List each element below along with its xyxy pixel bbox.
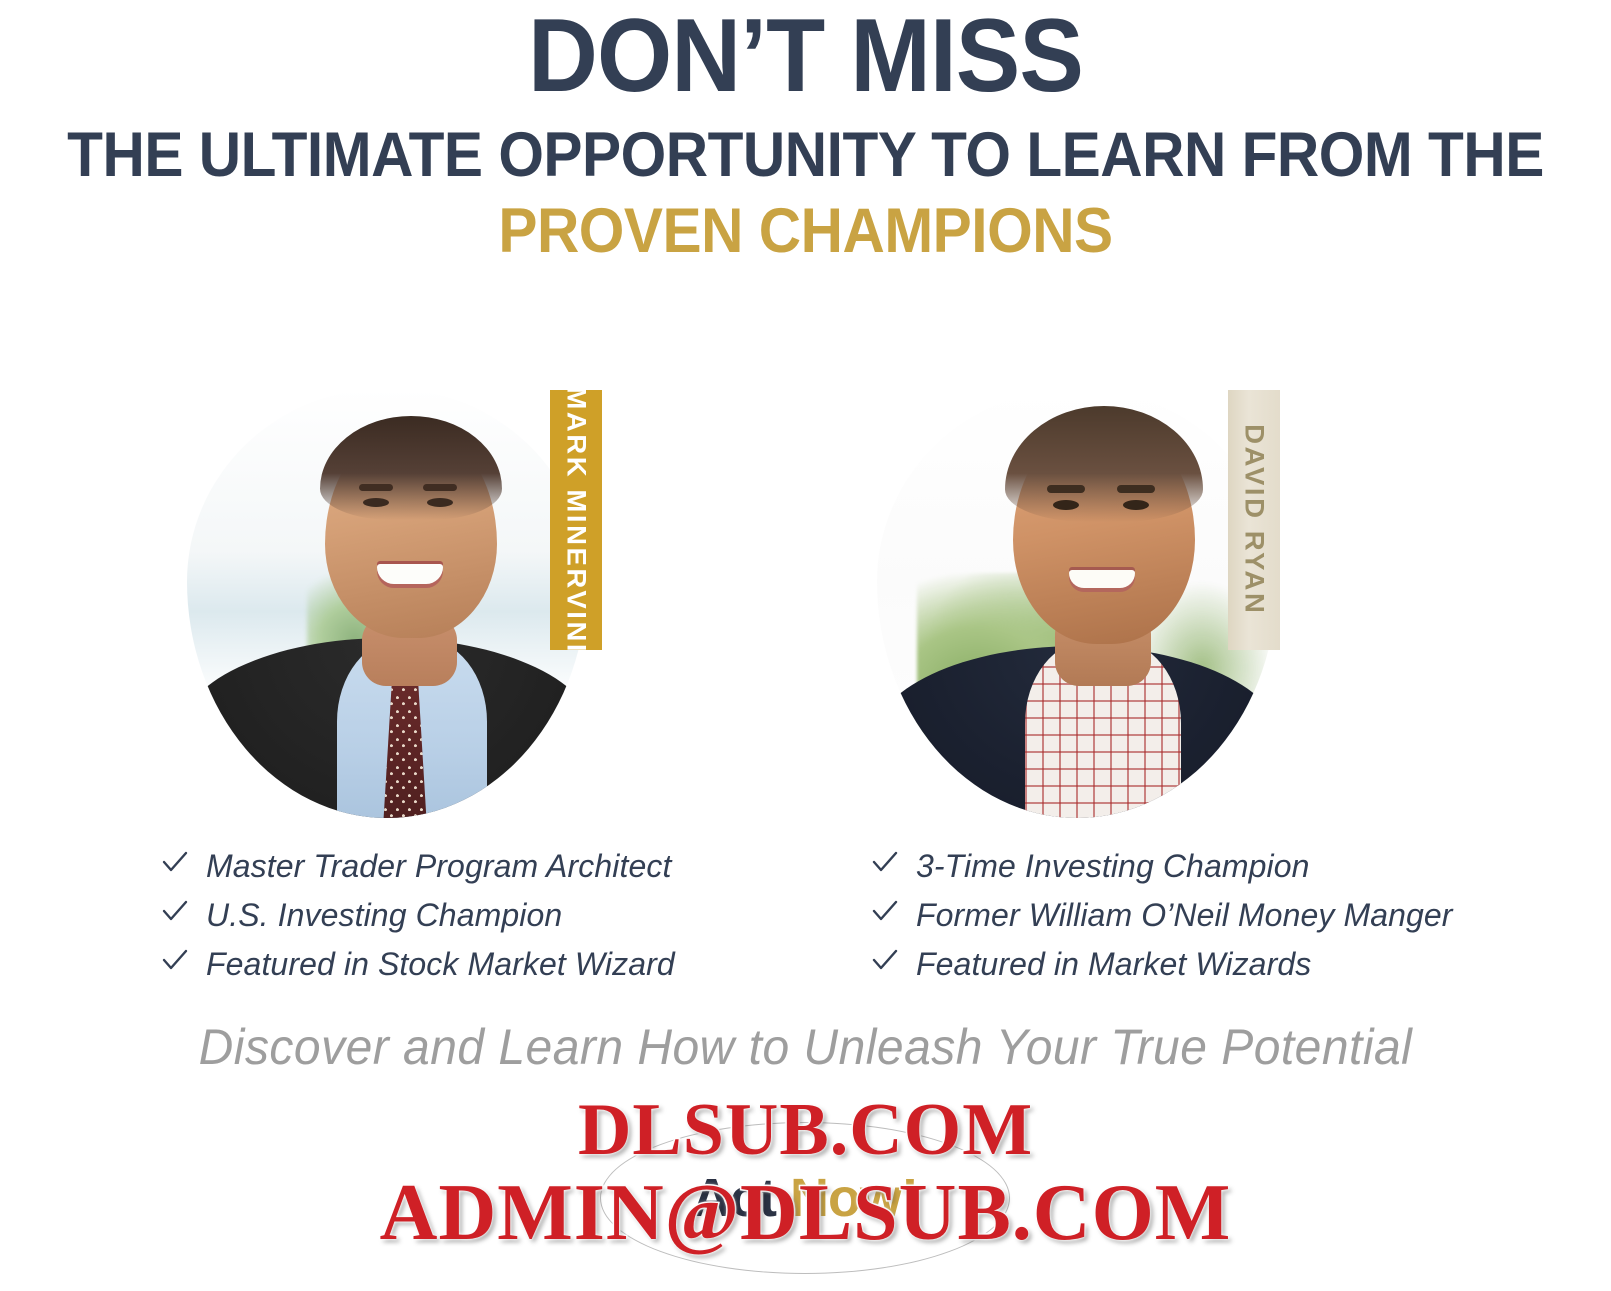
credential-text: Master Trader Program Architect [206, 848, 671, 885]
speaker-card-david-ryan: DAVID RYAN [855, 378, 1325, 828]
credential-text: Former William O’Neil Money Manger [916, 897, 1453, 934]
portrait-eye-left [363, 498, 389, 507]
credential-text: Featured in Stock Market Wizard [206, 946, 675, 983]
check-icon [870, 892, 916, 926]
portrait-image-david-ryan [877, 388, 1277, 818]
check-icon [160, 892, 206, 926]
portrait-eyebrow-left [1047, 485, 1085, 493]
check-icon [870, 941, 916, 975]
check-icon [870, 843, 916, 877]
headline-block: DON’T MISS THE ULTIMATE OPPORTUNITY TO L… [0, 0, 1611, 264]
portrait-eyebrow-right [1117, 485, 1155, 493]
headline-line-3: PROVEN CHAMPIONS [56, 198, 1554, 264]
speaker-name-label: DAVID RYAN [1239, 424, 1270, 615]
speaker-name-label: MARK MINERVINI [561, 386, 592, 654]
speaker-credentials-mark-minervini: Master Trader Program Architect U.S. Inv… [160, 843, 675, 990]
speaker-name-banner-mark-minervini: MARK MINERVINI [550, 390, 602, 650]
portrait-image-mark-minervini [187, 388, 587, 818]
speakers-section: MARK MINERVINI DAVID RYAN [0, 378, 1611, 828]
portrait-eye-right [1123, 500, 1149, 510]
watermark-email: ADMIN@DLSUB.COM [0, 1168, 1611, 1259]
portrait-eye-left [1053, 500, 1079, 510]
portrait-eye-right [427, 498, 453, 507]
credential-text: 3-Time Investing Champion [916, 848, 1310, 885]
list-item: 3-Time Investing Champion [870, 843, 1453, 892]
list-item: Master Trader Program Architect [160, 843, 675, 892]
speaker-portrait-david-ryan [877, 388, 1277, 818]
credential-text: Featured in Market Wizards [916, 946, 1311, 983]
portrait-eyebrow-left [359, 484, 393, 491]
credential-text: U.S. Investing Champion [206, 897, 562, 934]
portrait-eyebrow-right [423, 484, 457, 491]
tagline: Discover and Learn How to Unleash Your T… [32, 1018, 1579, 1076]
headline-line-1: DON’T MISS [56, 0, 1554, 108]
portrait-smile [1069, 570, 1135, 588]
watermark-site: DLSUB.COM [0, 1088, 1611, 1173]
speaker-card-mark-minervini: MARK MINERVINI [165, 378, 635, 828]
list-item: Featured in Stock Market Wizard [160, 941, 675, 990]
portrait-smile [377, 564, 443, 584]
headline-line-2: THE ULTIMATE OPPORTUNITY TO LEARN FROM T… [56, 122, 1554, 188]
speaker-name-banner-david-ryan: DAVID RYAN [1228, 390, 1280, 650]
speaker-portrait-mark-minervini [187, 388, 587, 818]
list-item: Featured in Market Wizards [870, 941, 1453, 990]
list-item: U.S. Investing Champion [160, 892, 675, 941]
check-icon [160, 941, 206, 975]
list-item: Former William O’Neil Money Manger [870, 892, 1453, 941]
speaker-credentials-david-ryan: 3-Time Investing Champion Former William… [870, 843, 1453, 990]
check-icon [160, 843, 206, 877]
